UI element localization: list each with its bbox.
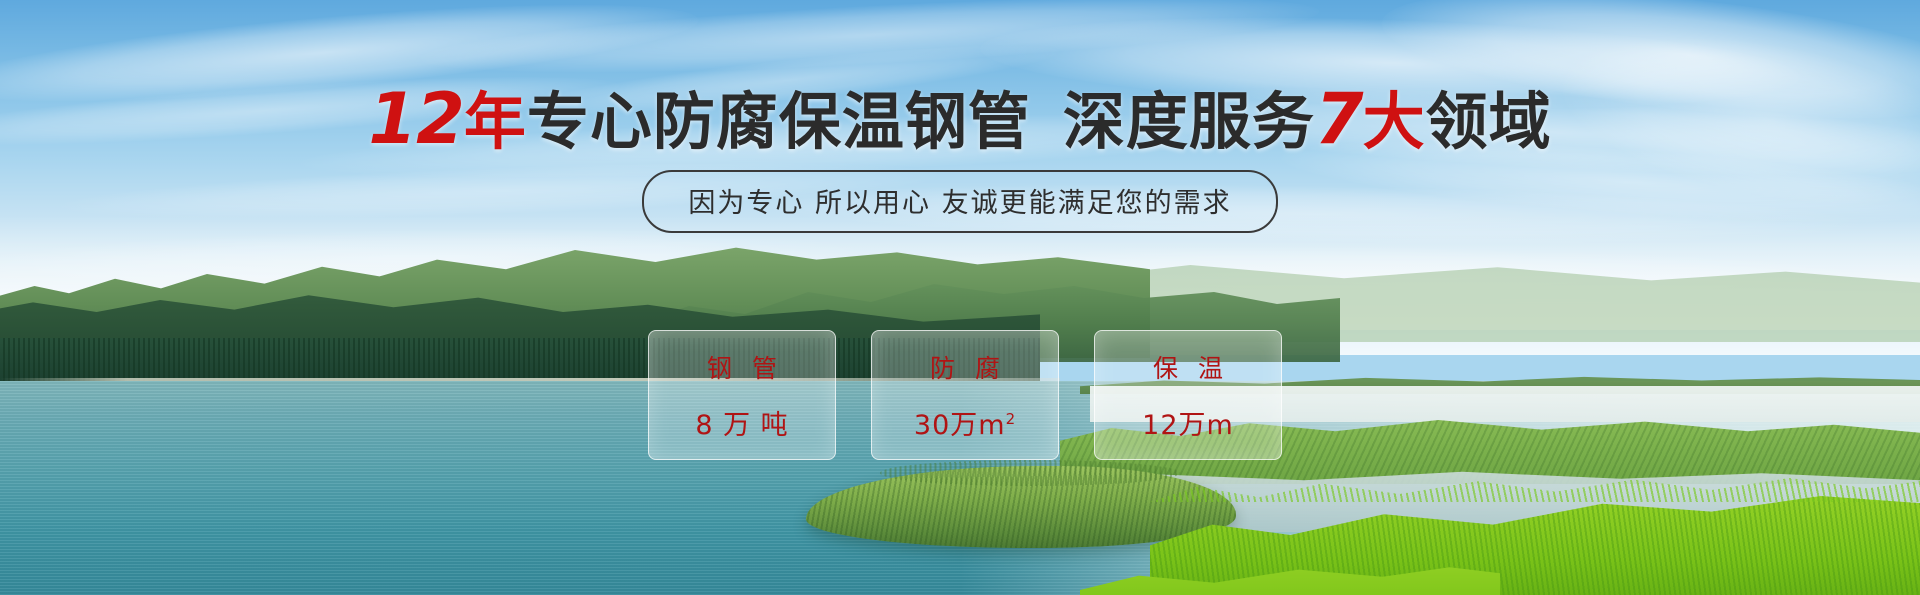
headline-text-secondary: 深度服务 — [1063, 85, 1315, 158]
stat-card-value-text: 8 万 吨 — [695, 410, 788, 441]
stat-card-value: 30万m2 — [914, 403, 1016, 442]
headline-text-tertiary: 领域 — [1426, 85, 1552, 158]
stat-card-value: 12万m — [1142, 403, 1234, 442]
stat-card-value-superscript: 2 — [1006, 410, 1017, 428]
headline-years-number: 12 — [368, 78, 463, 160]
hero-banner: 12年专心防腐保温钢管深度服务7大领域 因为专心 所以用心 友诚更能满足您的需求… — [0, 0, 1920, 595]
stat-cards: 钢 管 8 万 吨 防 腐 30万m2 保 温 12万m — [648, 330, 1282, 460]
headline-fields-suffix: 大 — [1363, 85, 1426, 158]
headline: 12年专心防腐保温钢管深度服务7大领域 — [0, 84, 1920, 154]
stat-card-insulation[interactable]: 保 温 12万m — [1094, 330, 1282, 460]
headline-years-suffix: 年 — [464, 85, 527, 158]
stat-card-value-text: 12万m — [1142, 410, 1234, 441]
headline-fields-number: 7 — [1315, 78, 1363, 160]
stat-card-value: 8 万 吨 — [695, 403, 788, 442]
stat-card-title: 防 腐 — [924, 349, 1006, 385]
island-grass-tuft — [880, 460, 1180, 486]
stat-card-value-text: 30万m — [914, 410, 1006, 441]
stat-card-title: 钢 管 — [701, 349, 783, 385]
headline-text-primary: 专心防腐保温钢管 — [527, 85, 1031, 158]
subtitle-container: 因为专心 所以用心 友诚更能满足您的需求 — [0, 170, 1920, 233]
stat-card-steel-pipe[interactable]: 钢 管 8 万 吨 — [648, 330, 836, 460]
stat-card-anticorrosion[interactable]: 防 腐 30万m2 — [871, 330, 1059, 460]
subtitle-pill: 因为专心 所以用心 友诚更能满足您的需求 — [642, 170, 1277, 233]
stat-card-title: 保 温 — [1147, 349, 1229, 385]
